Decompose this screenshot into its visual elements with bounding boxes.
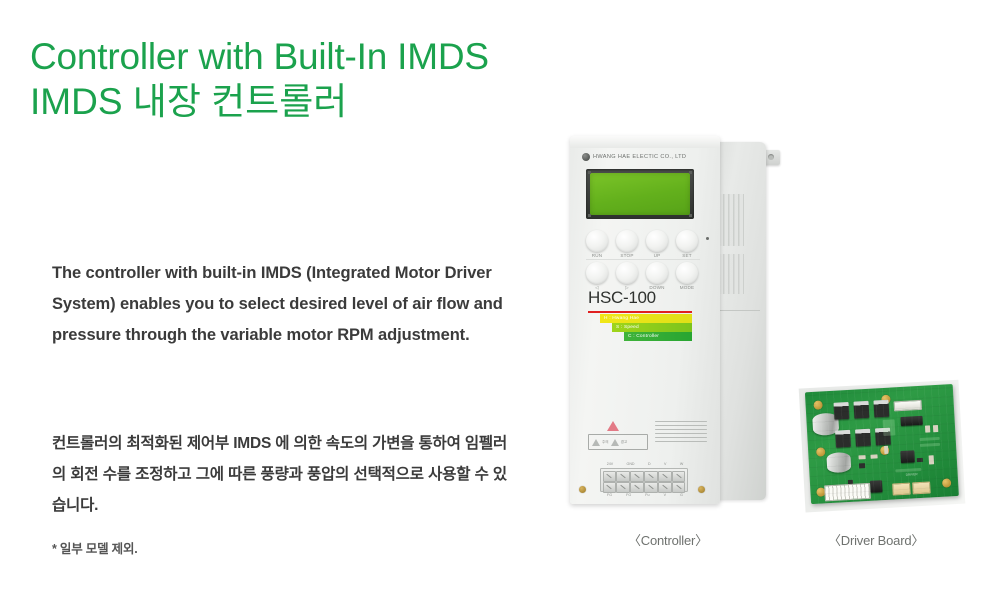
silkscreen-text: DRIVER [906,472,918,477]
button-stop[interactable]: STOP [616,230,638,258]
product-photo-area: HWANG HAE ELECTIC CO., LTD RUN STOP [540,118,981,528]
connector-header-top [894,400,923,412]
color-bar-hwanghae: H : Hwang Hae [600,314,692,323]
caption-driver-board: 〈Driver Board〉 [828,530,924,549]
capacitor-small [826,452,851,473]
ic-chip-1 [900,416,922,426]
caption-controller: 〈Controller〉 [628,530,708,549]
capacitor-large [812,413,839,436]
transistor-6 [875,428,891,446]
body-paragraph-korean-text: 컨트롤러의 최적화된 제어부 IMDS 에 의한 속도의 가변을 통하여 임펠러… [52,428,507,521]
button-run[interactable]: RUN [586,230,608,258]
page-title-korean: IMDS 내장 컨트롤러 [30,79,550,124]
color-bar-speed: S : Speed [612,323,692,332]
warning-icon-box: 주의 경고 [588,434,648,450]
keypad-divider [586,259,700,260]
keypad-row-1: RUN STOP UP SET [586,230,700,258]
connector-header-right [912,481,931,494]
brand-name-label: HWANG HAE ELECTIC CO., LTD [593,154,686,160]
transistor-2 [853,401,869,419]
page-title-english: Controller with Built-In IMDS [30,34,550,79]
case-screw-right [698,486,705,493]
model-number-label: HSC-100 [588,288,656,308]
ic-chip-2 [900,450,915,463]
transistor-3 [873,400,889,418]
button-right-arrow[interactable]: ▷ [616,262,638,291]
terminal-labels-top: 24V GND D V W [600,462,690,466]
brand-mark-icon [582,153,590,161]
side-vent-icon [718,254,744,294]
case-screw-left [579,486,586,493]
keypad-row-2: ◁ ▷ DOWN MODE [586,262,700,291]
lcd-screen [590,173,690,215]
lcd-display [586,169,694,219]
terminal-block [600,468,688,492]
diode-block [870,480,883,493]
button-mode[interactable]: MODE [676,262,698,291]
controller-product-image: HWANG HAE ELECTIC CO., LTD RUN STOP [570,136,760,506]
color-bar-controller: C : Controller [624,332,692,341]
danger-triangle-icon [611,439,619,446]
brand-logo: HWANG HAE ELECTIC CO., LTD [582,153,686,161]
button-up[interactable]: UP [646,230,668,258]
warning-text-lines [655,421,707,445]
footnote-note: * 일부 모델 제외. [52,538,138,557]
connector-header-left [824,483,871,502]
button-left-arrow[interactable]: ◁ [586,262,608,291]
controller-front-panel: HWANG HAE ELECTIC CO., LTD RUN STOP [570,136,720,504]
terminal-labels-bottom: FG FG Fu V G [600,493,690,497]
body-paragraph-korean: 컨트롤러의 최적화된 제어부 IMDS 에 의한 속도의 가변을 통하여 임펠러… [52,428,507,521]
caution-triangle-icon [592,439,600,446]
transistor-1 [834,402,850,420]
button-down[interactable]: DOWN [646,262,668,291]
status-led-icon [706,237,709,240]
transistor-4 [835,430,851,448]
controller-keypad: RUN STOP UP SET [586,230,700,295]
warning-triangle-icon [607,421,619,431]
transistor-5 [855,429,871,447]
button-set[interactable]: SET [676,230,698,258]
body-paragraph-english: The controller with built-in IMDS (Integ… [52,258,522,351]
pcb: DRIVER [805,384,959,504]
model-underline [588,311,692,313]
page-title: Controller with Built-In IMDS IMDS 내장 컨트… [30,34,550,124]
connector-header-mid [892,483,911,496]
driver-board-product-image: DRIVER [805,384,963,508]
